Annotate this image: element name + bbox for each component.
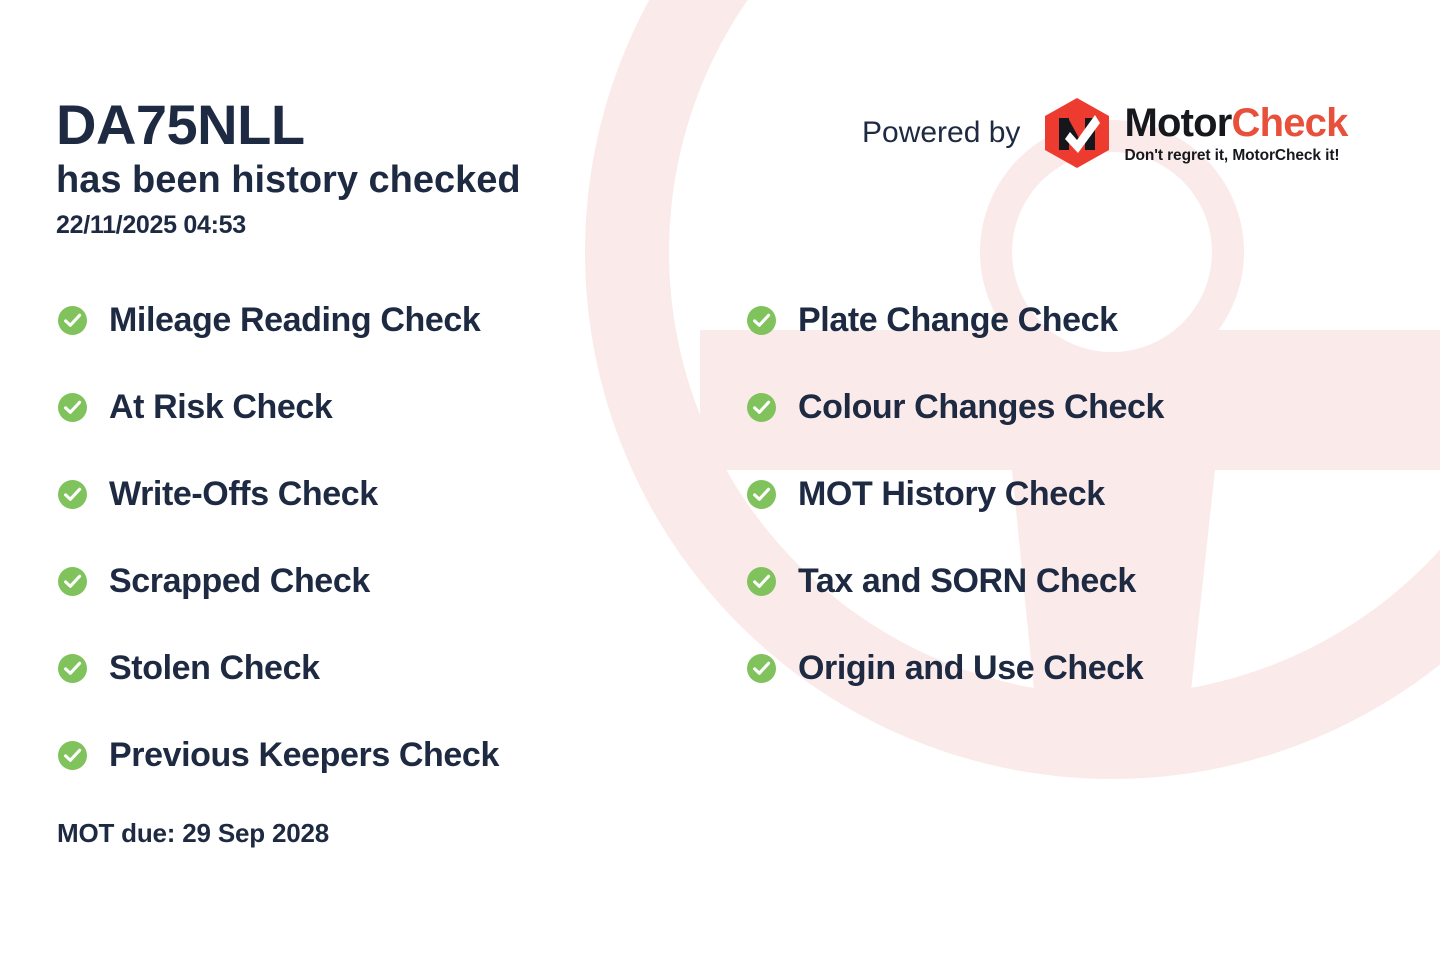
checks-column-right: Plate Change Check Colour Changes Check: [747, 300, 1164, 735]
check-circle-icon: [58, 393, 87, 422]
wordmark-check: Check: [1232, 101, 1348, 145]
vehicle-history-check-card: DA75NLL has been history checked 22/11/2…: [0, 0, 1440, 960]
check-circle-icon: [747, 393, 776, 422]
motorcheck-hexagon-icon: [1040, 96, 1114, 170]
check-item-label: Tax and SORN Check: [798, 564, 1136, 598]
powered-by-branding: Powered by MotorCheck Don't regre: [862, 96, 1348, 170]
check-circle-icon: [58, 480, 87, 509]
check-item-plate-change: Plate Change Check: [747, 300, 1164, 340]
check-item-label: Write-Offs Check: [109, 477, 378, 511]
motorcheck-tagline: Don't regret it, MotorCheck it!: [1124, 148, 1347, 164]
check-circle-icon: [747, 567, 776, 596]
registration-plate: DA75NLL: [56, 96, 521, 153]
motorcheck-wordmark: MotorCheck Don't regret it, MotorCheck i…: [1124, 103, 1347, 164]
check-item-label: Plate Change Check: [798, 303, 1118, 337]
check-circle-icon: [58, 741, 87, 770]
check-item-mot-history: MOT History Check: [747, 474, 1164, 514]
check-item-label: Colour Changes Check: [798, 390, 1164, 424]
check-item-write-offs: Write-Offs Check: [58, 474, 499, 514]
check-item-label: Scrapped Check: [109, 564, 370, 598]
checks-column-left: Mileage Reading Check At Risk Check: [58, 300, 499, 822]
check-item-origin-and-use: Origin and Use Check: [747, 648, 1164, 688]
check-circle-icon: [58, 306, 87, 335]
check-item-colour-changes: Colour Changes Check: [747, 387, 1164, 427]
check-item-mileage-reading: Mileage Reading Check: [58, 300, 499, 340]
check-item-label: At Risk Check: [109, 390, 332, 424]
check-item-previous-keepers: Previous Keepers Check: [58, 735, 499, 775]
check-circle-icon: [58, 567, 87, 596]
check-item-label: Origin and Use Check: [798, 651, 1143, 685]
check-circle-icon: [747, 654, 776, 683]
powered-by-label: Powered by: [862, 116, 1020, 150]
check-item-stolen: Stolen Check: [58, 648, 499, 688]
check-circle-icon: [747, 480, 776, 509]
check-circle-icon: [747, 306, 776, 335]
page-title: has been history checked: [56, 157, 521, 205]
check-circle-icon: [58, 654, 87, 683]
check-item-label: MOT History Check: [798, 477, 1105, 511]
motorcheck-logo[interactable]: MotorCheck Don't regret it, MotorCheck i…: [1040, 96, 1347, 170]
check-item-label: Stolen Check: [109, 651, 320, 685]
check-item-scrapped: Scrapped Check: [58, 561, 499, 601]
check-item-tax-and-sorn: Tax and SORN Check: [747, 561, 1164, 601]
header-block: DA75NLL has been history checked 22/11/2…: [56, 96, 521, 240]
check-timestamp: 22/11/2025 04:53: [56, 211, 521, 240]
check-item-at-risk: At Risk Check: [58, 387, 499, 427]
wordmark-motor: Motor: [1124, 101, 1231, 145]
mot-due-label: MOT due: 29 Sep 2028: [57, 818, 329, 849]
check-item-label: Mileage Reading Check: [109, 303, 480, 337]
check-item-label: Previous Keepers Check: [109, 738, 499, 772]
